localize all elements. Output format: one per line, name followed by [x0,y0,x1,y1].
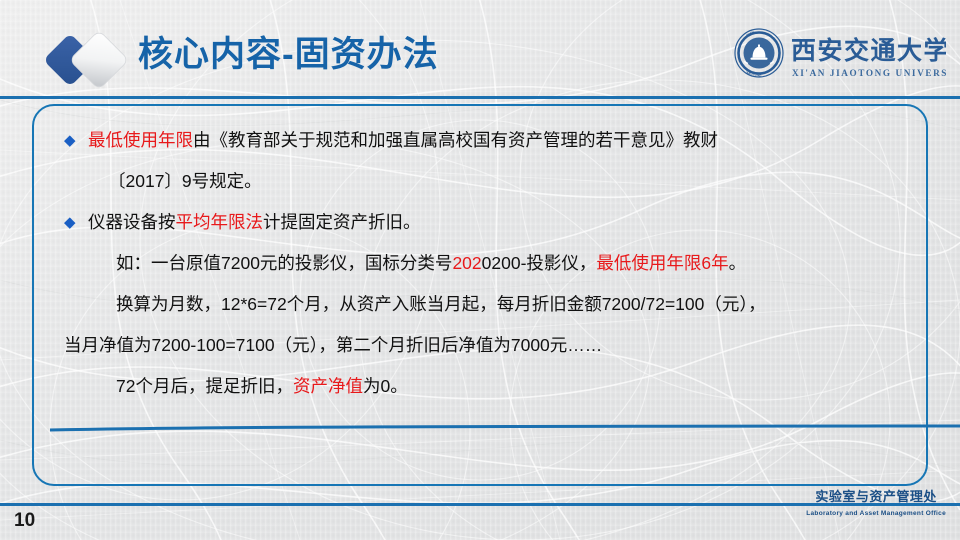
example-4-text-post: 为0。 [363,376,408,396]
svg-text:XI'AN: XI'AN [746,30,756,38]
diamond-bullet-icon: ◆ [64,120,88,161]
example-1-text-post: 。 [729,253,747,273]
bullet-1-highlight: 最低使用年限 [88,130,193,150]
university-name-cn: 西安交通大学 [791,36,946,65]
bullet-2-text-pre: 仪器设备按 [88,212,176,232]
bullet-item-2: ◆ 仪器设备按平均年限法计提固定资产折旧。 [64,202,904,243]
content-panel: ◆ 最低使用年限由《教育部关于规范和加强直属高校国有资产管理的若干意见》教财 〔… [32,104,928,486]
footer-org-cn: 实验室与资产管理处 [806,489,946,504]
bullet-1-continuation: 〔2017〕9号规定。 [64,161,904,202]
presentation-slide: 核心内容-固资办法 [0,0,960,540]
example-4-text-pre: 72个月后，提足折旧， [116,376,293,396]
footer-org-en: Laboratory and Asset Management Office [806,506,946,521]
university-name-en: XI'AN JIAOTONG UNIVERSITY [792,68,946,78]
example-4-highlight: 资产净值 [293,376,363,396]
bullet-1-text: 由《教育部关于规范和加强直属高校国有资产管理的若干意见》教财 [193,130,718,150]
bullet-2-highlight: 平均年限法 [176,212,264,232]
body-text: ◆ 最低使用年限由《教育部关于规范和加强直属高校国有资产管理的若干意见》教财 〔… [64,120,904,407]
example-1-code-highlight: 202 [452,253,481,273]
slide-header: 核心内容-固资办法 [0,0,960,96]
header-divider [0,96,960,99]
example-1-years-highlight: 最低使用年限6年 [596,253,728,273]
page-number: 10 [14,510,35,532]
example-line-4: 72个月后，提足折旧，资产净值为0。 [64,366,904,407]
example-1-text-pre: 如：一台原值7200元的投影仪，国标分类号 [116,253,452,273]
diamond-logo-icon [44,26,136,96]
footer-organization: 实验室与资产管理处 Laboratory and Asset Managemen… [806,489,946,521]
diamond-bullet-icon: ◆ [64,202,88,243]
example-line-1: 如：一台原值7200元的投影仪，国标分类号2020200-投影仪，最低使用年限6… [64,243,904,284]
example-line-2: 换算为月数，12*6=72个月，从资产入账当月起，每月折旧金额7200/72=1… [64,284,904,325]
university-logo: XI'AN JIAOTONG 西安交通大学 XI'AN JIAOTONG UNI… [728,26,946,88]
page-title: 核心内容-固资办法 [138,28,439,82]
example-1-code-rest: 0200-投影仪， [482,253,597,273]
example-line-3: 当月净值为7200-100=7100（元），第二个月折旧后净值为7000元…… [64,325,904,366]
bullet-item-1: ◆ 最低使用年限由《教育部关于规范和加强直属高校国有资产管理的若干意见》教财 [64,120,904,161]
bullet-2-text-post: 计提固定资产折旧。 [263,212,421,232]
